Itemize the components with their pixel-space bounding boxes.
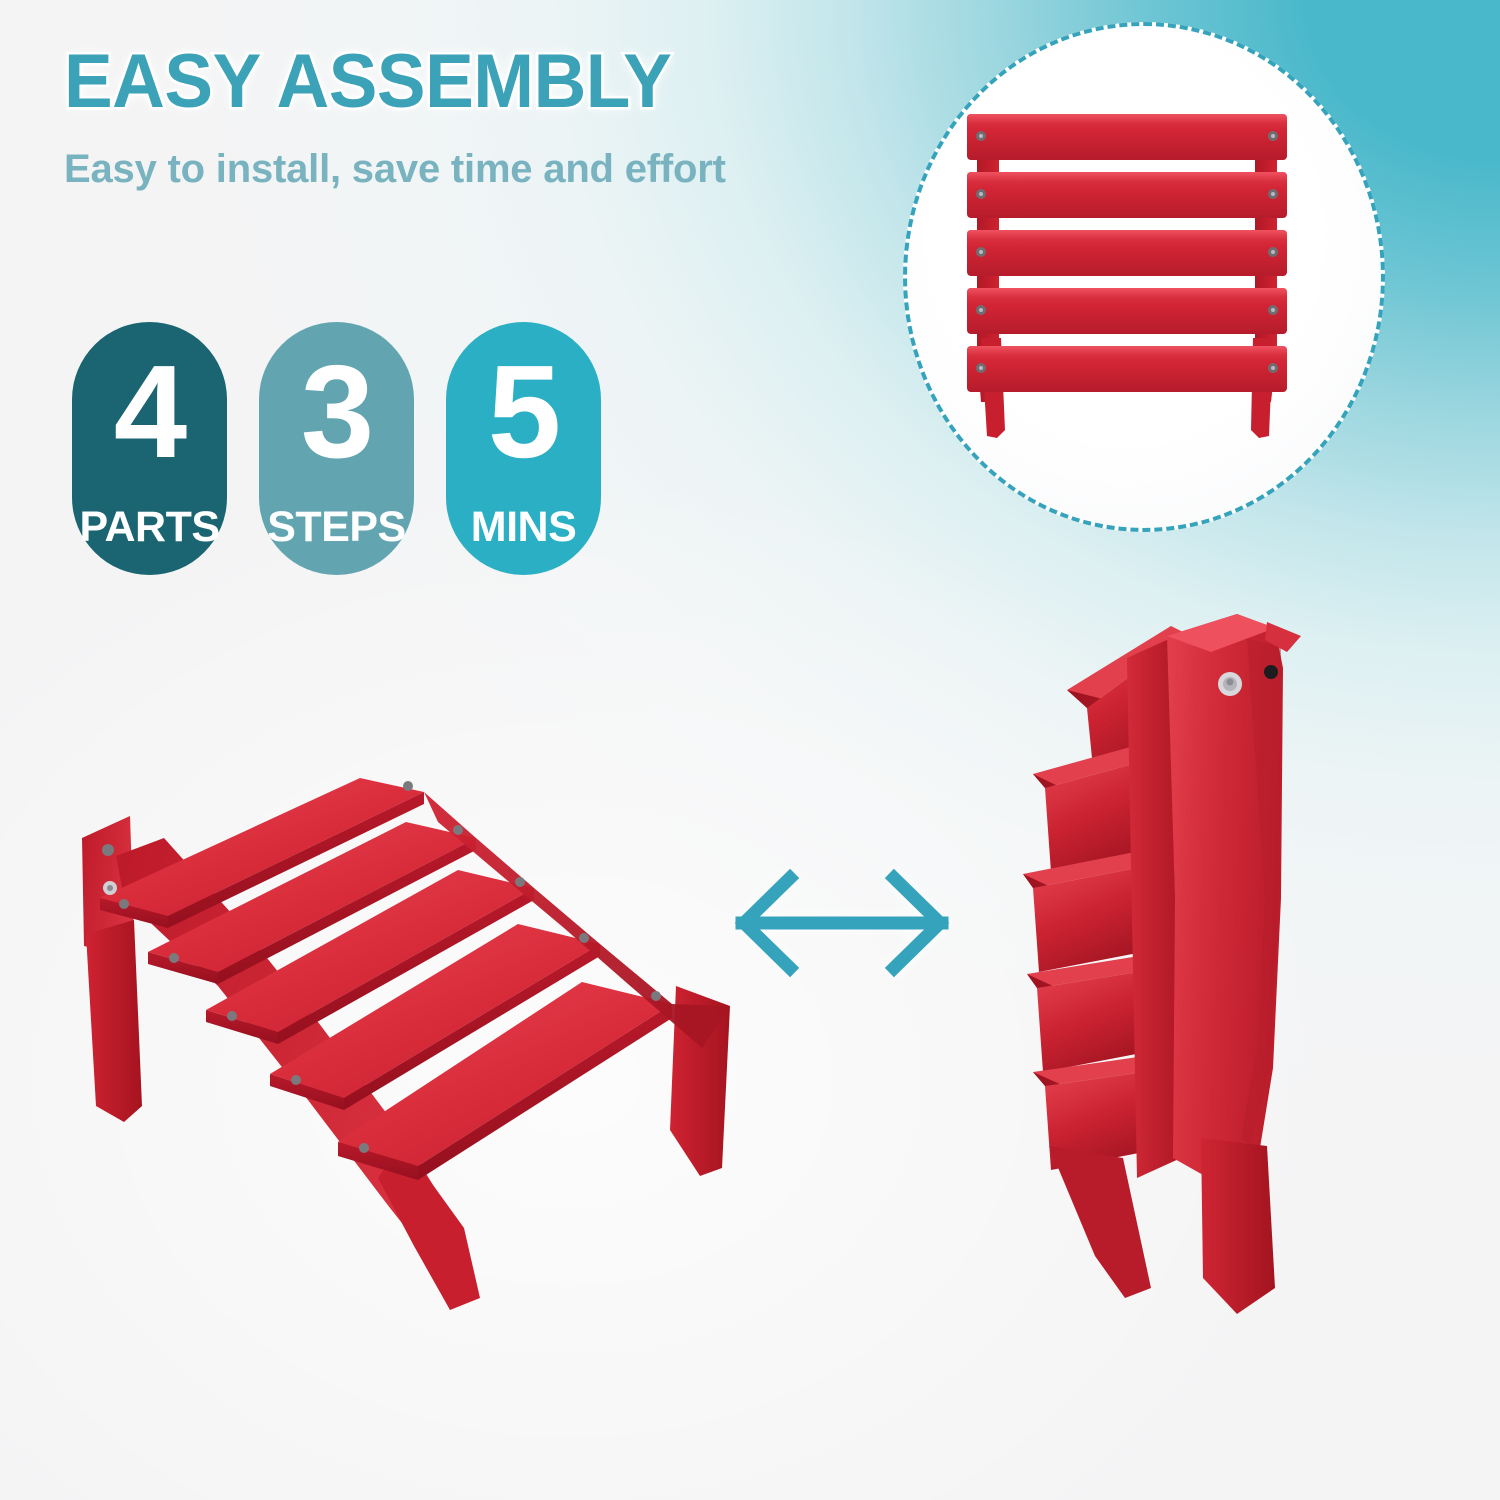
circle-inset-folded-view <box>903 22 1385 532</box>
stat-pill-parts: 4 PARTS <box>72 322 227 575</box>
stat-label-steps: STEPS <box>267 506 406 549</box>
page-subtitle: Easy to install, save time and effort <box>64 145 794 194</box>
stat-label-parts: PARTS <box>79 506 219 549</box>
headline-block: EASY ASSEMBLY Easy to install, save time… <box>64 46 864 194</box>
stat-number-mins: 5 <box>488 346 559 478</box>
stat-number-parts: 4 <box>114 346 185 478</box>
stats-row: 4 PARTS 3 STEPS 5 MINS <box>72 322 601 575</box>
ottoman-open-image <box>72 738 772 1318</box>
page-title: EASY ASSEMBLY <box>64 46 832 119</box>
folded-ottoman-front-image <box>955 100 1335 480</box>
stat-label-mins: MINS <box>471 506 577 549</box>
ottoman-folded-image <box>975 598 1345 1320</box>
stat-number-steps: 3 <box>301 346 372 478</box>
stat-pill-mins: 5 MINS <box>446 322 601 575</box>
stat-pill-steps: 3 STEPS <box>259 322 414 575</box>
transform-arrow <box>728 866 956 980</box>
infographic-canvas: EASY ASSEMBLY Easy to install, save time… <box>0 0 1500 1500</box>
